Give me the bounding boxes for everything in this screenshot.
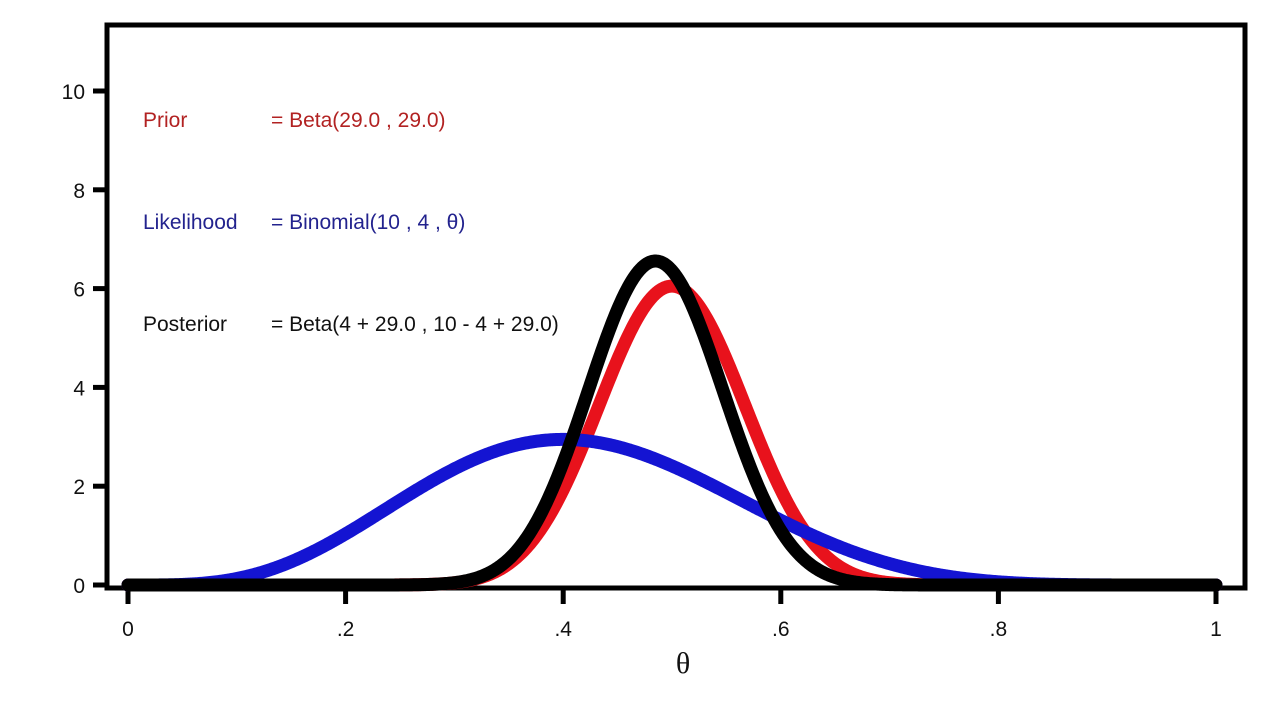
legend-row-posterior: Posterior= Beta(4 + 29.0 , 10 - 4 + 29.0… [143, 308, 559, 342]
legend-label-prior: Prior [143, 104, 271, 138]
x-tick-label: .6 [772, 618, 790, 641]
legend-eq-prior: = Beta(29.0 , 29.0) [271, 109, 446, 132]
legend-eq-posterior: = Beta(4 + 29.0 , 10 - 4 + 29.0) [271, 313, 559, 336]
x-axis-title: θ [676, 647, 690, 680]
x-tick-label: 1 [1210, 618, 1222, 641]
y-tick-label: 0 [73, 575, 85, 598]
y-tick-label: 6 [73, 279, 85, 302]
chart-canvas: 0246810 0.2.4.6.81 θ Prior= Beta(29.0 , … [0, 0, 1280, 720]
y-tick-label: 8 [73, 180, 85, 203]
y-tick-label: 4 [73, 377, 85, 400]
legend-row-prior: Prior= Beta(29.0 , 29.0) [143, 104, 559, 138]
x-tick-label: .4 [554, 618, 572, 641]
legend-eq-likelihood: = Binomial(10 , 4 , θ) [271, 211, 465, 234]
y-tick-label: 2 [73, 476, 85, 499]
y-tick-label: 10 [62, 81, 85, 104]
x-tick-label: 0 [122, 618, 134, 641]
x-tick-label: .8 [990, 618, 1008, 641]
chart-legend: Prior= Beta(29.0 , 29.0) Likelihood= Bin… [143, 36, 559, 410]
legend-row-likelihood: Likelihood= Binomial(10 , 4 , θ) [143, 206, 559, 240]
x-tick-label: .2 [337, 618, 355, 641]
legend-label-posterior: Posterior [143, 308, 271, 342]
legend-label-likelihood: Likelihood [143, 206, 271, 240]
